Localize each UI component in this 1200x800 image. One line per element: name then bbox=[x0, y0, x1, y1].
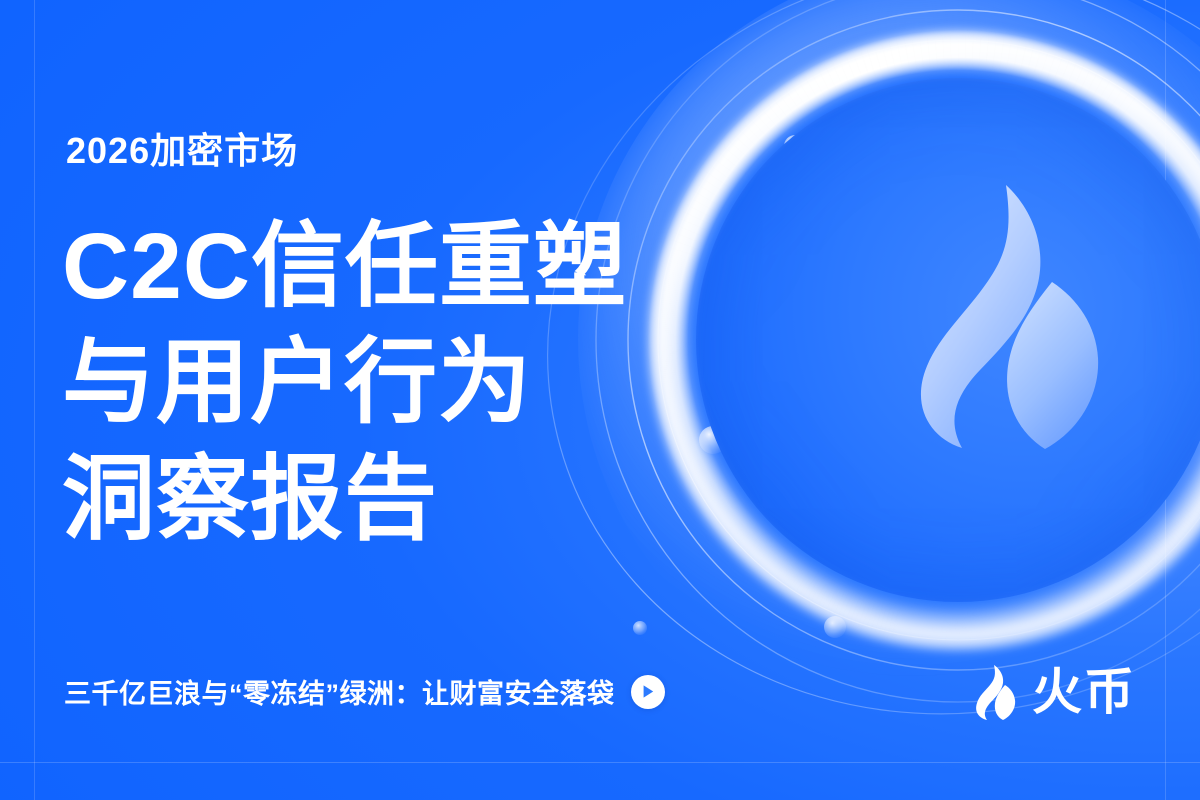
orbit-dot-4 bbox=[633, 621, 647, 635]
orbit-dot-3 bbox=[824, 616, 846, 638]
flame-watermark-icon bbox=[900, 180, 1150, 460]
play-button[interactable] bbox=[631, 675, 665, 709]
orbit-dot-1 bbox=[784, 135, 806, 157]
headline-line-3: 洞察报告 bbox=[62, 441, 762, 557]
grid-line-left bbox=[34, 0, 35, 800]
subtitle-text: 三千亿巨浪与“零冻结”绿洲：让财富安全落袋 bbox=[64, 672, 615, 711]
brand-name: 火币 bbox=[1032, 667, 1136, 717]
grid-line-bottom bbox=[0, 762, 1200, 763]
headline-line-2: 与用户行为 bbox=[62, 324, 762, 440]
flame-logo-icon bbox=[974, 664, 1018, 720]
poster-canvas: 2026加密市场 C2C信任重塑 与用户行为 洞察报告 三千亿巨浪与“零冻结”绿… bbox=[0, 0, 1200, 800]
grid-line-right bbox=[1165, 0, 1166, 800]
subtitle-row: 三千亿巨浪与“零冻结”绿洲：让财富安全落袋 bbox=[64, 672, 665, 711]
eyebrow-text: 2026加密市场 bbox=[66, 122, 298, 174]
headline-line-1: C2C信任重塑 bbox=[62, 208, 762, 324]
brand-logo: 火币 bbox=[974, 664, 1136, 720]
page-title: C2C信任重塑 与用户行为 洞察报告 bbox=[62, 208, 762, 557]
play-icon bbox=[641, 684, 655, 699]
